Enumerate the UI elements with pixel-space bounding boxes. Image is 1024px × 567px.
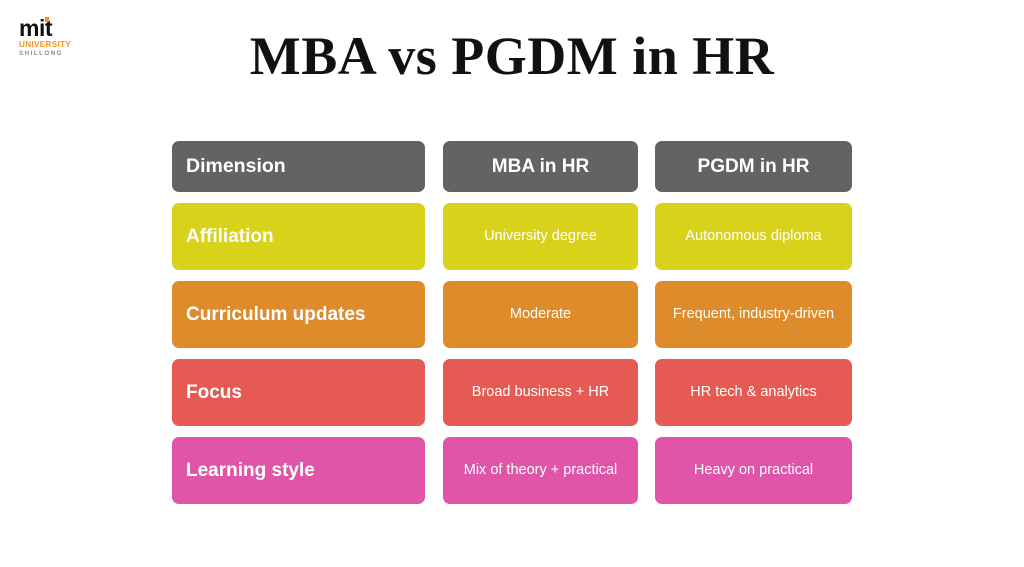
cell-pgdm: Autonomous diploma <box>655 203 852 270</box>
cell-label-dimension: Affiliation <box>186 227 411 246</box>
cell-label-dimension: Learning style <box>186 461 411 480</box>
cell-mba: Moderate <box>443 281 638 348</box>
header-label-pgdm: PGDM in HR <box>669 156 838 178</box>
cell-mba: University degree <box>443 203 638 270</box>
cell-dimension: Affiliation <box>172 203 425 270</box>
header-cell-dimension: Dimension <box>172 141 425 192</box>
cell-label-mba: University degree <box>457 227 624 246</box>
logo-orange-dot-icon <box>45 17 50 22</box>
cell-pgdm: HR tech & analytics <box>655 359 852 426</box>
comparison-table: Dimension MBA in HR PGDM in HR Affiliati… <box>172 141 852 515</box>
cell-mba: Mix of theory + practical <box>443 437 638 504</box>
table-header-row: Dimension MBA in HR PGDM in HR <box>172 141 852 192</box>
cell-label-dimension: Focus <box>186 383 411 402</box>
cell-mba: Broad business + HR <box>443 359 638 426</box>
table-row: Learning style Mix of theory + practical… <box>172 437 852 504</box>
cell-dimension: Focus <box>172 359 425 426</box>
header-cell-pgdm: PGDM in HR <box>655 141 852 192</box>
cell-pgdm: Frequent, industry-driven <box>655 281 852 348</box>
cell-label-pgdm: Heavy on practical <box>669 461 838 480</box>
cell-label-mba: Mix of theory + practical <box>457 461 624 480</box>
header-label-mba: MBA in HR <box>457 156 624 178</box>
cell-label-pgdm: Autonomous diploma <box>669 227 838 246</box>
cell-label-pgdm: Frequent, industry-driven <box>669 305 838 324</box>
cell-dimension: Learning style <box>172 437 425 504</box>
table-row: Affiliation University degree Autonomous… <box>172 203 852 270</box>
cell-label-pgdm: HR tech & analytics <box>669 383 838 402</box>
cell-label-mba: Broad business + HR <box>457 383 624 402</box>
cell-dimension: Curriculum updates <box>172 281 425 348</box>
header-cell-mba: MBA in HR <box>443 141 638 192</box>
table-row: Curriculum updates Moderate Frequent, in… <box>172 281 852 348</box>
cell-pgdm: Heavy on practical <box>655 437 852 504</box>
page-title: MBA vs PGDM in HR <box>0 25 1024 87</box>
header-label-dimension: Dimension <box>186 155 411 178</box>
cell-label-mba: Moderate <box>457 305 624 324</box>
cell-label-dimension: Curriculum updates <box>186 305 411 324</box>
table-row: Focus Broad business + HR HR tech & anal… <box>172 359 852 426</box>
